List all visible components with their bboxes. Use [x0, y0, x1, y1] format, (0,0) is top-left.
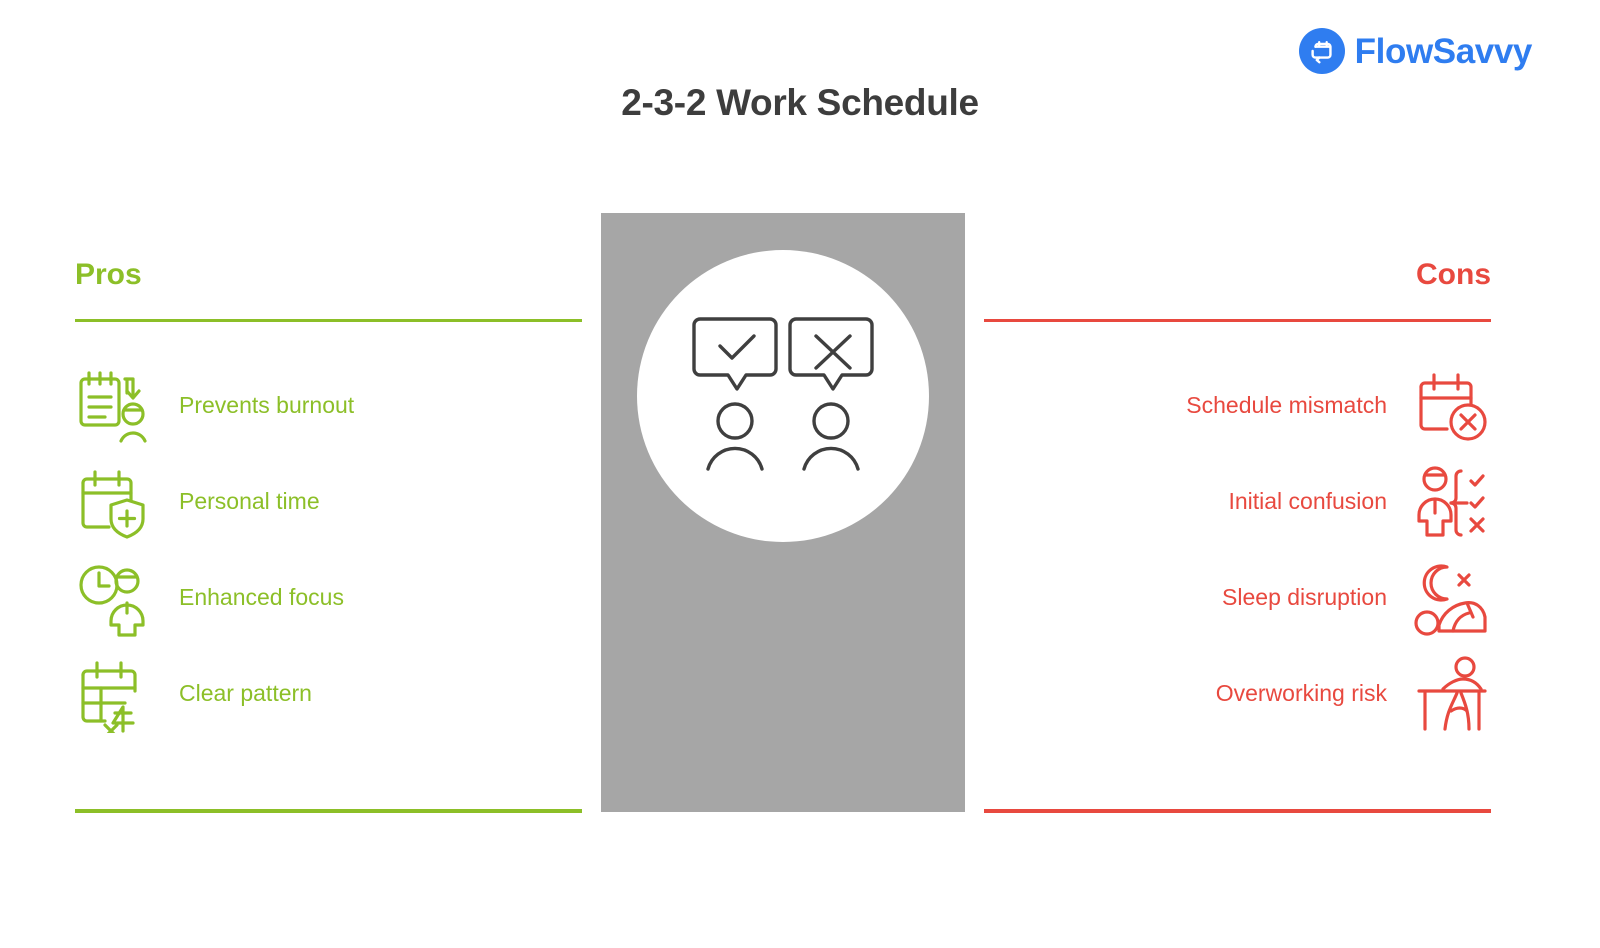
center-circle [637, 250, 929, 542]
cons-divider-bottom [984, 809, 1491, 813]
list-item[interactable]: Schedule mismatch [984, 358, 1491, 454]
page-title: 2-3-2 Work Schedule [0, 82, 1600, 124]
person-brace-check-x-icon [1413, 463, 1491, 541]
person-at-desk-icon [1413, 655, 1491, 733]
center-image-panel [601, 213, 965, 812]
list-item-label: Initial confusion [1228, 488, 1387, 516]
calendar-x-circle-icon [1413, 367, 1491, 445]
moon-x-sleeping-person-icon [1413, 559, 1491, 637]
notepad-arrow-person-icon [75, 367, 153, 445]
list-item-label: Personal time [179, 488, 320, 516]
list-item[interactable]: Initial confusion [984, 454, 1491, 550]
list-item-label: Clear pattern [179, 680, 312, 708]
list-item[interactable]: Clear pattern [75, 646, 582, 742]
list-item-label: Enhanced focus [179, 584, 344, 612]
clock-person-icon [75, 559, 153, 637]
calendar-shield-plus-icon [75, 463, 153, 541]
infographic-page: FlowSavvy 2-3-2 Work Schedule [0, 0, 1600, 948]
list-item-label: Schedule mismatch [1186, 392, 1387, 420]
list-item[interactable]: Enhanced focus [75, 550, 582, 646]
list-item[interactable]: Sleep disruption [984, 550, 1491, 646]
brand-logo[interactable]: FlowSavvy [1299, 28, 1532, 74]
list-item[interactable]: Personal time [75, 454, 582, 550]
cons-list: Schedule mismatch Ini [984, 358, 1491, 742]
two-people-approve-reject-icon [688, 311, 878, 481]
list-item-label: Sleep disruption [1222, 584, 1387, 612]
list-item-label: Overworking risk [1216, 680, 1387, 708]
pros-divider-bottom [75, 809, 582, 813]
pros-divider-top [75, 319, 582, 322]
calendar-refresh-icon [1299, 28, 1345, 74]
cons-heading: Cons [984, 258, 1491, 291]
list-item-label: Prevents burnout [179, 392, 354, 420]
brand-name: FlowSavvy [1355, 34, 1532, 69]
list-item[interactable]: Overworking risk [984, 646, 1491, 742]
list-item[interactable]: Prevents burnout [75, 358, 582, 454]
calendar-grid-times-four-icon [75, 655, 153, 733]
pros-heading: Pros [75, 258, 582, 291]
pros-column: Pros [75, 258, 582, 742]
cons-divider-top [984, 319, 1491, 322]
cons-column: Cons Schedule mismatch [984, 258, 1491, 742]
pros-list: Prevents burnout Pers [75, 358, 582, 742]
